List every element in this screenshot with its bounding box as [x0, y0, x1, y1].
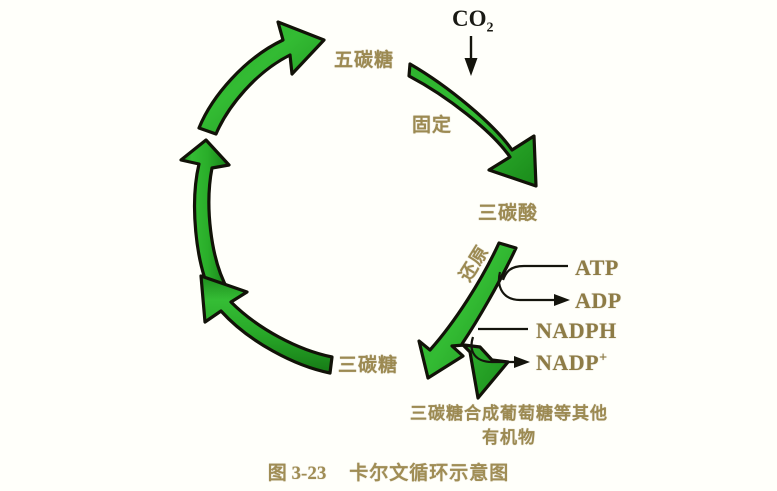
regeneration-arrow-left — [181, 140, 229, 296]
label-fixation: 固定 — [412, 110, 452, 137]
label-triose: 三碳糖 — [338, 350, 398, 377]
nadp-text: NADP — [536, 350, 599, 375]
figure-number: 图 3-23 — [268, 463, 327, 484]
regeneration-arrow-upper — [199, 22, 324, 134]
figure-caption: 图 3-23 卡尔文循环示意图 — [0, 458, 777, 485]
calvin-cycle-diagram — [0, 0, 777, 491]
figure-title: 卡尔文循环示意图 — [349, 462, 509, 484]
adp-connector — [499, 272, 570, 306]
figure-canvas: CO2 五碳糖 固定 三碳酸 还原 三碳糖 三碳糖合成葡萄糖等其他有机物 ATP… — [0, 0, 777, 491]
nadp-superscript: + — [599, 351, 607, 366]
atp-connector — [503, 266, 568, 280]
label-adp: ADP — [575, 288, 622, 314]
co2-input-arrow — [465, 36, 478, 76]
label-nadph: NADPH — [536, 318, 617, 344]
co2-subscript: 2 — [487, 21, 494, 36]
label-tricarbon-acid: 三碳酸 — [478, 198, 538, 225]
label-nadp-plus: NADP+ — [536, 350, 608, 376]
co2-text: CO — [452, 6, 487, 31]
label-pentose: 五碳糖 — [334, 45, 394, 72]
label-atp: ATP — [575, 255, 619, 281]
label-glucose-note: 三碳糖合成葡萄糖等其他有机物 — [404, 402, 614, 450]
regeneration-arrow-lower — [201, 276, 332, 373]
label-co2: CO2 — [452, 6, 494, 37]
